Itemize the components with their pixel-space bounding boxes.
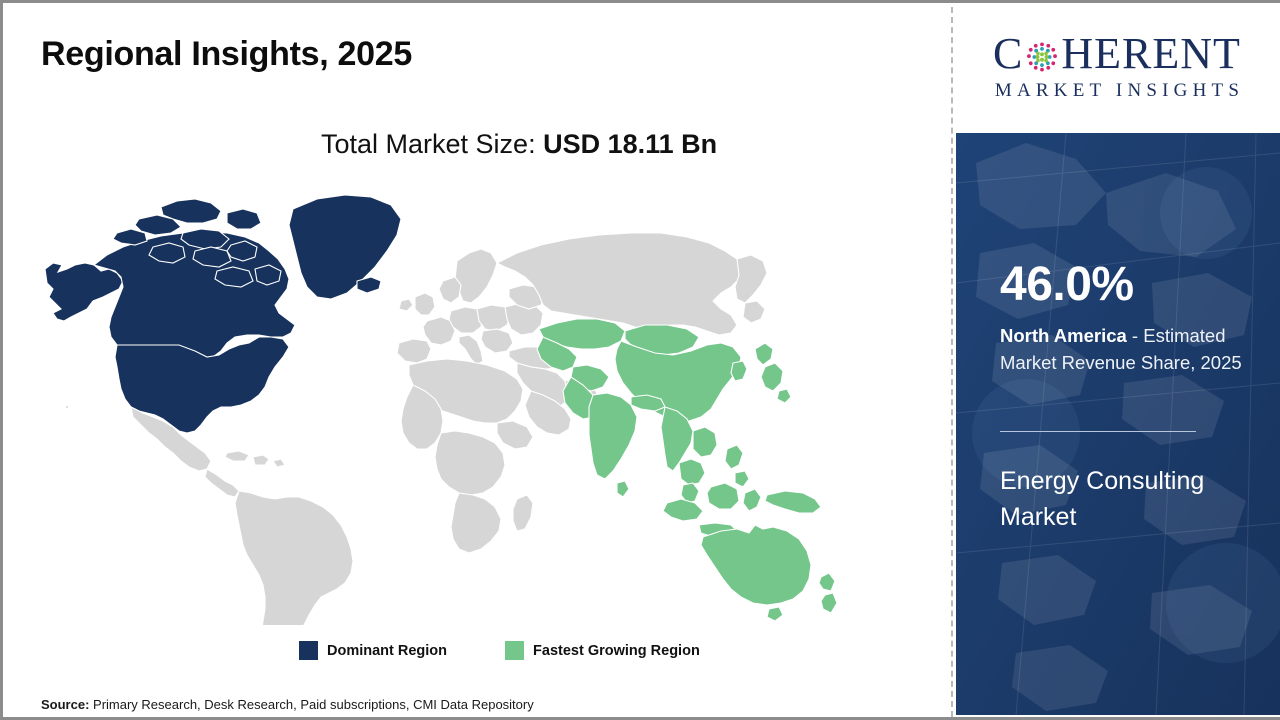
legend-swatch-dominant-icon [299, 641, 318, 660]
logo-subtitle: MARKET INSIGHTS [990, 80, 1244, 102]
market-size-value: USD 18.11 Bn [543, 129, 717, 159]
logo-letter-c: C [993, 32, 1023, 76]
source-text: Primary Research, Desk Research, Paid su… [89, 697, 533, 712]
stat-percent-value: 46.0% [1000, 261, 1134, 309]
panel-divider [951, 7, 953, 717]
legend-swatch-fastest-growing-icon [505, 641, 524, 660]
logo-text-herent: HERENT [1061, 32, 1241, 76]
brand-logo: C [954, 3, 1280, 131]
left-panel: Regional Insights, 2025 Total Market Siz… [3, 3, 952, 717]
market-size-label: Total Market Size: [321, 129, 543, 159]
legend-item-fastest-growing: Fastest Growing Region [505, 641, 700, 660]
legend-label-dominant: Dominant Region [327, 643, 447, 659]
stat-content: 46.0% North America - Estimated Market R… [956, 133, 1280, 715]
legend-label-fastest-growing: Fastest Growing Region [533, 643, 700, 659]
page-title: Regional Insights, 2025 [41, 35, 412, 74]
stat-region-name: North America [1000, 325, 1127, 346]
stat-caption: North America - Estimated Market Revenue… [1000, 323, 1250, 377]
world-map-container: .gy{fill:#d6d6d6;stroke:#ffffff;stroke-w… [31, 185, 841, 625]
dotted-globe-icon [1024, 39, 1060, 75]
map-legend: Dominant Region Fastest Growing Region [299, 641, 700, 660]
stat-divider [1000, 431, 1196, 432]
map-speck [65, 405, 68, 408]
source-label: Source: [41, 697, 89, 712]
right-panel: C [954, 3, 1280, 717]
stat-panel: 46.0% North America - Estimated Market R… [956, 133, 1280, 715]
total-market-size: Total Market Size: USD 18.11 Bn [321, 129, 717, 160]
source-line: Source: Primary Research, Desk Research,… [41, 697, 534, 712]
legend-item-dominant: Dominant Region [299, 641, 447, 660]
logo-wordmark: C [993, 32, 1241, 76]
infographic-root: Regional Insights, 2025 Total Market Siz… [0, 0, 1280, 720]
world-map: .gy{fill:#d6d6d6;stroke:#ffffff;stroke-w… [31, 185, 841, 625]
market-name: Energy Consulting Market [1000, 463, 1240, 535]
